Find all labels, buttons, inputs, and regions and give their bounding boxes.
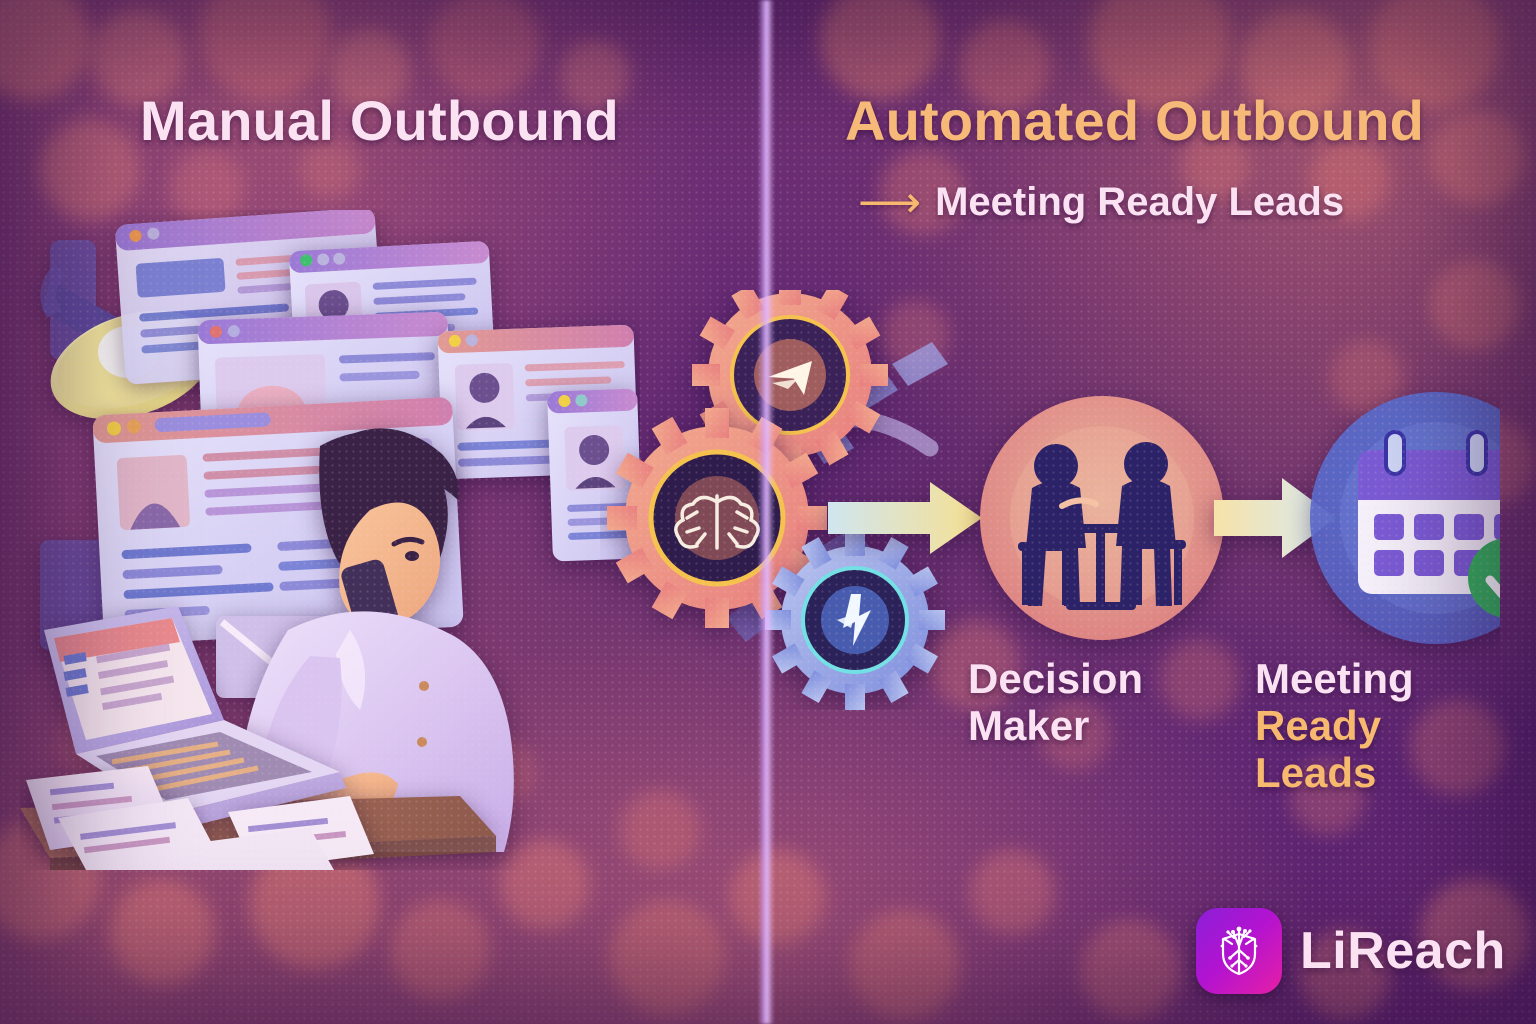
meeting-booked-node <box>1310 392 1500 644</box>
mrl-label-line1: Meeting <box>1255 655 1470 702</box>
automation-flow-illustration <box>600 290 1500 710</box>
decision-maker-node <box>980 396 1224 640</box>
decision-maker-label: Decision Maker <box>968 655 1183 749</box>
brand-logo[interactable]: LiReach <box>1196 908 1506 994</box>
decision-maker-label-line2: Maker <box>968 702 1183 749</box>
page-title-left: Manual Outbound <box>140 88 619 153</box>
arrow-right-icon: ⟶ <box>858 181 921 225</box>
mrl-label-line3: Leads <box>1255 749 1470 796</box>
decision-maker-label-line1: Decision <box>968 655 1183 702</box>
meeting-ready-leads-label: Meeting Ready Leads <box>1255 655 1470 796</box>
subtitle-text: Meeting Ready Leads <box>935 180 1344 225</box>
mrl-label-line2: Ready <box>1255 702 1470 749</box>
section-divider <box>758 0 774 1024</box>
brand-name: LiReach <box>1300 921 1506 981</box>
page-title-right: Automated Outbound <box>845 88 1424 153</box>
manual-outbound-illustration <box>20 210 640 870</box>
shield-circuit-tree-icon <box>1196 908 1282 994</box>
infographic-canvas: Manual Outbound Automated Outbound ⟶ Mee… <box>0 0 1536 1024</box>
subtitle-row: ⟶ Meeting Ready Leads <box>858 180 1344 225</box>
